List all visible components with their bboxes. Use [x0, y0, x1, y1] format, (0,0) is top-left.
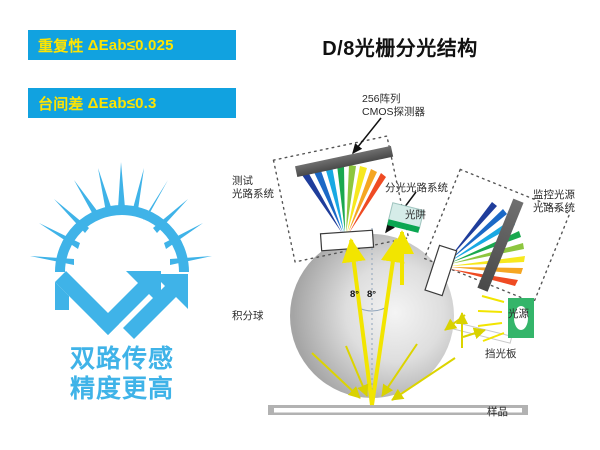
page-title: D/8光栅分光结构: [250, 32, 550, 61]
spec-badge-inter-instrument-value: ΔEab≤0.3: [88, 95, 157, 112]
label-light-baffle: 挡光板: [485, 348, 517, 361]
label-cmos-detector: 256阵列 CMOS探测器: [362, 93, 425, 120]
slogan-line-2: 精度更高: [22, 375, 222, 405]
slogan-line-1: 双路传感: [22, 345, 222, 375]
slogan: 双路传感 精度更高: [22, 345, 222, 404]
spec-badge-repeatability-label: 重复性: [38, 35, 84, 56]
label-light-trap: 光阱: [405, 209, 426, 222]
infographic-canvas: 重复性 ΔEab≤0.025 台间差 ΔEab≤0.3: [0, 0, 600, 450]
sun-rays-arrows-icon: [22, 150, 222, 340]
spec-badge-inter-instrument: 台间差 ΔEab≤0.3: [28, 88, 236, 118]
grating-icon: [321, 230, 374, 251]
label-splitting-optical-path: 分光光路系统: [385, 182, 448, 195]
optical-structure-diagram: [220, 80, 600, 450]
label-monitor-light-source-path: 监控光源 光路系统: [533, 189, 575, 216]
label-angle-right: 8°: [367, 289, 376, 301]
spectrum-fan-test: [302, 165, 386, 233]
label-sample: 样品: [487, 406, 508, 419]
label-integrating-sphere: 积分球: [232, 310, 264, 323]
label-test-optical-path: 测试 光路系统: [232, 175, 274, 202]
spec-badge-inter-instrument-label: 台间差: [38, 93, 84, 114]
label-light-source: 光源: [508, 308, 529, 321]
label-angle-left: 8°: [350, 289, 359, 301]
spec-badge-repeatability: 重复性 ΔEab≤0.025: [28, 30, 236, 60]
spec-badge-repeatability-value: ΔEab≤0.025: [88, 37, 174, 54]
cmos-callout-arrow: [353, 118, 381, 153]
